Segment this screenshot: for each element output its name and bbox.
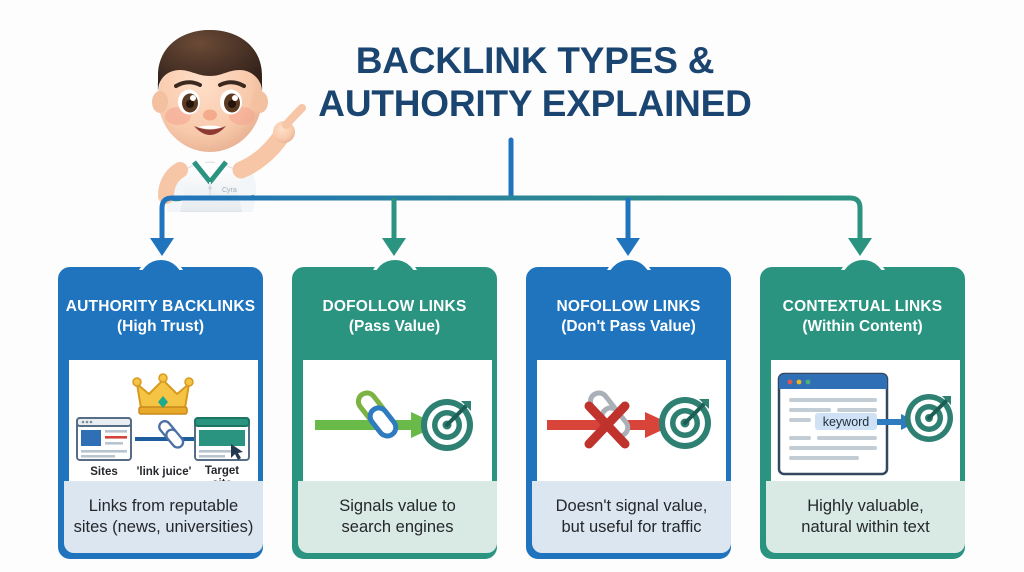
card-header-2: DOFOLLOW LINKS (Pass Value) (295, 270, 494, 360)
caption-line-2a: Signals value to (339, 497, 456, 515)
card-contextual-links[interactable]: 4 CONTEXTUAL LINKS (Within Content) (760, 267, 965, 559)
caption-line-3b: but useful for traffic (561, 518, 701, 536)
card-title-4: CONTEXTUAL LINKS (763, 298, 962, 316)
caption-line-1a: Links from reputable (89, 497, 239, 515)
caption-line-3a: Doesn't signal value, (556, 497, 708, 515)
illustration-crown-sites-to-target: Sites 'link juice' Target site (69, 360, 258, 490)
label-link-juice: 'link juice' (137, 466, 192, 478)
connector-arrow-3 (616, 238, 640, 256)
source-site-window (77, 418, 131, 460)
label-sites: Sites (90, 466, 118, 478)
connector-diagram (0, 0, 1024, 280)
card-subtitle-4: (Within Content) (763, 318, 962, 336)
card-header-4: CONTEXTUAL LINKS (Within Content) (763, 270, 962, 360)
target-icon (421, 399, 473, 451)
crown-icon (133, 374, 193, 414)
illustration-browser-keyword-to-target: keyword (771, 360, 960, 490)
label-target: Target (205, 465, 239, 477)
card-header-3: NOFOLLOW LINKS (Don't Pass Value) (529, 270, 728, 360)
content-browser-window: keyword (779, 374, 887, 474)
caption-line-1b: sites (news, universities) (74, 518, 254, 536)
card-dofollow-links[interactable]: 2 DOFOLLOW LINKS (Pass Value) (292, 267, 497, 559)
card-caption-1: Links from reputable sites (news, univer… (64, 481, 263, 553)
keyword-label: keyword (823, 415, 870, 429)
card-nofollow-links[interactable]: 3 NOFOLLOW LINKS (Don't Pass Value) (526, 267, 731, 559)
chain-icon (355, 390, 399, 440)
illustration-green-chain-to-target (303, 360, 492, 490)
card-title-3: NOFOLLOW LINKS (529, 298, 728, 316)
caption-line-4b: natural within text (801, 518, 929, 536)
connector-bus (162, 198, 860, 240)
card-subtitle-2: (Pass Value) (295, 318, 494, 336)
card-header-1: AUTHORITY BACKLINKS (High Trust) (61, 270, 260, 360)
chain-link-icon (157, 419, 185, 450)
card-caption-3: Doesn't signal value, but useful for tra… (532, 481, 731, 553)
card-caption-2: Signals value to search engines (298, 481, 497, 553)
caption-line-4a: Highly valuable, (807, 497, 923, 515)
caption-line-2b: search engines (342, 518, 454, 536)
connector-arrow-4 (848, 238, 872, 256)
cards-row: 1 AUTHORITY BACKLINKS (High Trust) (0, 255, 1024, 565)
target-site-window (195, 418, 249, 460)
card-title-1: AUTHORITY BACKLINKS (61, 298, 260, 316)
illustration-broken-chain-to-target (537, 360, 726, 490)
card-subtitle-3: (Don't Pass Value) (529, 318, 728, 336)
connector-arrow-1 (150, 238, 174, 256)
infographic-canvas: Cyra (0, 0, 1024, 572)
card-caption-4: Highly valuable, natural within text (766, 481, 965, 553)
card-subtitle-1: (High Trust) (61, 318, 260, 336)
connector-arrow-2 (382, 238, 406, 256)
card-title-2: DOFOLLOW LINKS (295, 298, 494, 316)
card-authority-backlinks[interactable]: 1 AUTHORITY BACKLINKS (High Trust) (58, 267, 263, 559)
target-icon (659, 397, 711, 449)
target-icon (905, 394, 953, 442)
